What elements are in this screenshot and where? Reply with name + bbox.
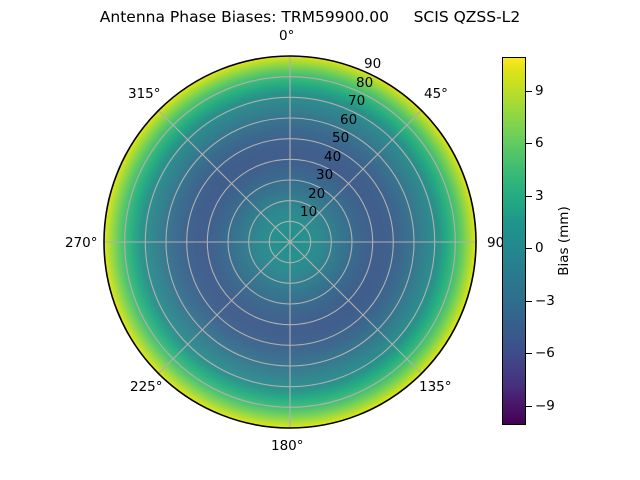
- polar-axes[interactable]: [103, 55, 477, 429]
- page-title: Antenna Phase Biases: TRM59900.00 SCIS Q…: [0, 8, 620, 26]
- colorbar-tick-6: [526, 143, 532, 144]
- colorbar-ticklabel-neg9: −9: [535, 398, 555, 414]
- colorbar-ticklabel-6: 6: [535, 135, 544, 151]
- theta-label-225: 225°: [130, 379, 163, 395]
- angular-gridlines: [104, 56, 476, 428]
- r-label-30: 30: [316, 167, 333, 183]
- r-label-10: 10: [300, 204, 317, 220]
- polar-plot-svg: [103, 55, 477, 429]
- colorbar-ticklabel-3: 3: [535, 188, 544, 204]
- colorbar-ticklabel-0: 0: [535, 240, 544, 256]
- colorbar-gradient: [502, 57, 526, 425]
- theta-label-135: 135°: [419, 379, 452, 395]
- theta-label-0: 0°: [279, 28, 294, 44]
- colorbar-ticklabel-neg6: −6: [535, 345, 555, 361]
- colorbar-axis-label: Bias (mm): [556, 206, 572, 275]
- colorbar-ticklabel-9: 9: [535, 83, 544, 99]
- colorbar-tick-0: [526, 248, 532, 249]
- theta-label-180: 180°: [271, 438, 304, 454]
- colorbar-ticklabel-neg3: −3: [535, 293, 555, 309]
- r-label-50: 50: [332, 130, 349, 146]
- theta-label-315: 315°: [128, 86, 161, 102]
- theta-label-270: 270°: [65, 235, 98, 251]
- r-label-40: 40: [324, 149, 341, 165]
- r-label-60: 60: [340, 112, 357, 128]
- theta-label-45: 45°: [424, 86, 448, 102]
- r-label-80: 80: [356, 75, 373, 91]
- colorbar-tick-9: [526, 91, 532, 92]
- r-label-20: 20: [308, 186, 325, 202]
- colorbar-tick-neg3: [526, 301, 532, 302]
- colorbar-tick-neg6: [526, 353, 532, 354]
- r-label-70: 70: [348, 93, 365, 109]
- colorbar[interactable]: 9 6 3 0 −3 −6 −9: [502, 57, 526, 425]
- colorbar-tick-neg9: [526, 406, 532, 407]
- figure-canvas: Antenna Phase Biases: TRM59900.00 SCIS Q…: [0, 0, 640, 480]
- r-label-90: 90: [364, 56, 381, 72]
- colorbar-tick-3: [526, 196, 532, 197]
